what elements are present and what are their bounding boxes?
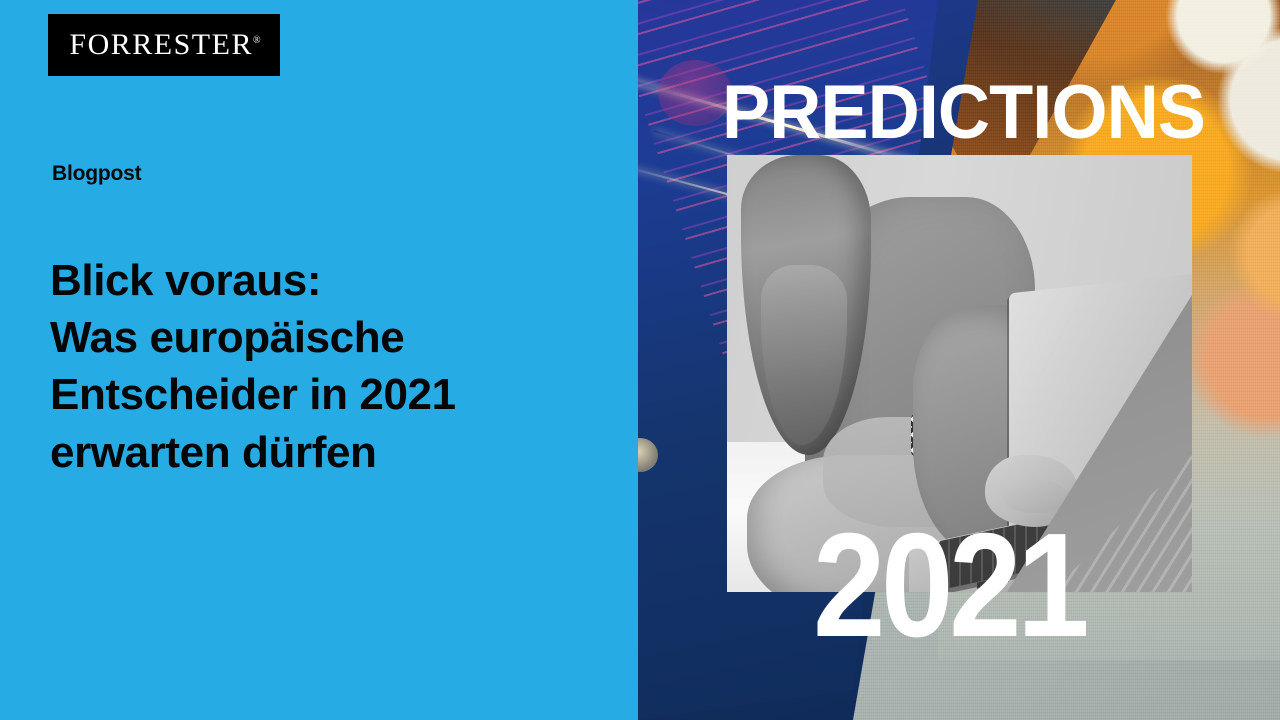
cover-title: PREDICTIONS	[722, 80, 1254, 145]
page-title: Blick voraus: Was europäische Entscheide…	[50, 252, 610, 481]
forrester-wordmark: FORRESTER®	[67, 28, 260, 62]
left-content-panel: FORRESTER® Blogpost Blick voraus: Was eu…	[0, 0, 638, 720]
registered-mark-icon: ®	[253, 35, 261, 46]
forrester-logo[interactable]: FORRESTER®	[48, 14, 280, 76]
pink-bokeh-dot-4	[658, 60, 732, 126]
cover-artwork-panel: PREDICTIONS 2021	[638, 0, 1280, 720]
cover-year: 2021	[813, 525, 1085, 646]
slide-root: FORRESTER® Blogpost Blick voraus: Was eu…	[0, 0, 1280, 720]
content-type-kicker: Blogpost	[52, 162, 141, 186]
forrester-wordmark-text: FORRESTER	[69, 28, 253, 61]
warm-bokeh-dot-5	[638, 438, 658, 472]
